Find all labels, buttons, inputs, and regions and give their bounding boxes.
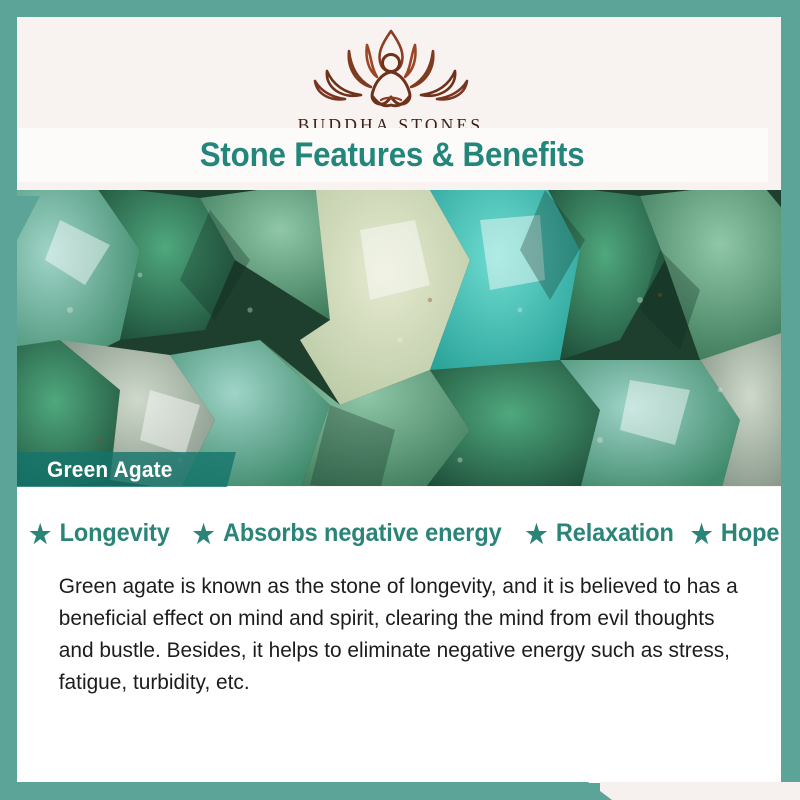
benefits-row: ★ Longevity ★ Absorbs negative energy ★ … xyxy=(51,519,747,548)
benefit-label: Longevity xyxy=(59,519,169,548)
benefit-item: ★ Longevity xyxy=(21,519,170,548)
infographic-card: BUDDHA STONES Stone Features & Benefits xyxy=(0,0,800,800)
benefit-item: ★ Hope xyxy=(682,519,779,548)
right-border xyxy=(781,0,800,800)
star-icon: ★ xyxy=(525,521,547,547)
page-title: Stone Features & Benefits xyxy=(200,136,585,175)
bottom-border xyxy=(0,782,612,800)
content-panel: ★ Longevity ★ Absorbs negative energy ★ … xyxy=(17,487,781,783)
stone-name-badge: Green Agate xyxy=(17,452,236,487)
bottom-pink-strip xyxy=(600,782,800,800)
title-band: Stone Features & Benefits xyxy=(16,128,768,182)
stone-photo xyxy=(0,190,781,486)
brand-logo: BUDDHA STONES xyxy=(298,25,484,136)
left-border xyxy=(0,17,17,782)
top-border xyxy=(0,0,800,17)
benefit-item: ★ Relaxation xyxy=(517,519,674,548)
star-icon: ★ xyxy=(29,521,51,547)
benefit-label: Relaxation xyxy=(556,519,674,548)
star-icon: ★ xyxy=(193,521,215,547)
star-icon: ★ xyxy=(690,521,712,547)
benefit-label: Absorbs negative energy xyxy=(223,519,502,548)
stone-name-label: Green Agate xyxy=(47,457,173,483)
benefit-label: Hope xyxy=(721,519,779,548)
benefit-item: ★ Absorbs negative energy xyxy=(184,519,501,548)
lotus-meditation-icon xyxy=(301,25,481,113)
stone-description: Green agate is known as the stone of lon… xyxy=(51,570,746,698)
stone-photo-art xyxy=(0,190,781,486)
